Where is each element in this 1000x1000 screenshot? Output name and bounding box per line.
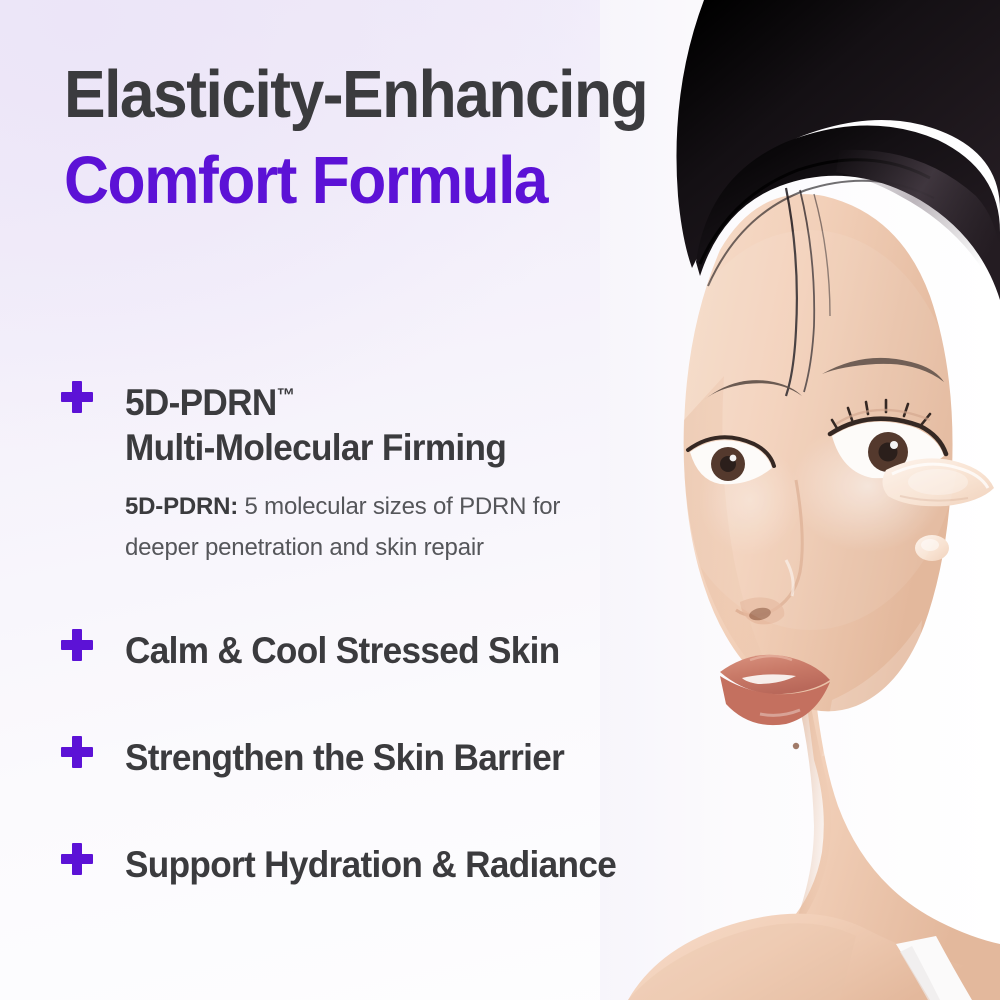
promo-banner: Elasticity-Enhancing Comfort Formula 5D-… xyxy=(0,0,1000,1000)
feature-item-hydration-radiance: Support Hydration & Radiance xyxy=(60,842,760,887)
headline-line-2: Comfort Formula xyxy=(64,138,789,224)
feature-title-line-2: Multi-Molecular Firming xyxy=(125,427,506,468)
plus-icon xyxy=(60,380,94,414)
feature-title: Calm & Cool Stressed Skin xyxy=(125,628,728,673)
feature-item-skin-barrier: Strengthen the Skin Barrier xyxy=(60,735,760,780)
feature-title: 5D-PDRN™ Multi-Molecular Firming xyxy=(125,380,728,470)
plus-icon xyxy=(60,628,94,662)
trademark-icon: ™ xyxy=(277,386,295,407)
feature-title: Support Hydration & Radiance xyxy=(125,842,728,887)
feature-description-label: 5D-PDRN: xyxy=(125,493,238,520)
feature-item-calm-cool: Calm & Cool Stressed Skin xyxy=(60,628,760,673)
plus-icon xyxy=(60,842,94,876)
headline-line-1: Elasticity-Enhancing xyxy=(64,52,789,138)
feature-description: 5D-PDRN: 5 molecular sizes of PDRN for d… xyxy=(125,487,595,568)
feature-title: Strengthen the Skin Barrier xyxy=(125,735,728,780)
headline: Elasticity-Enhancing Comfort Formula xyxy=(64,52,844,224)
plus-icon xyxy=(60,735,94,769)
feature-item-pdrn: 5D-PDRN™ Multi-Molecular Firming 5D-PDRN… xyxy=(60,380,760,568)
feature-list: 5D-PDRN™ Multi-Molecular Firming 5D-PDRN… xyxy=(60,380,760,887)
feature-title-line-1: 5D-PDRN xyxy=(125,382,277,423)
